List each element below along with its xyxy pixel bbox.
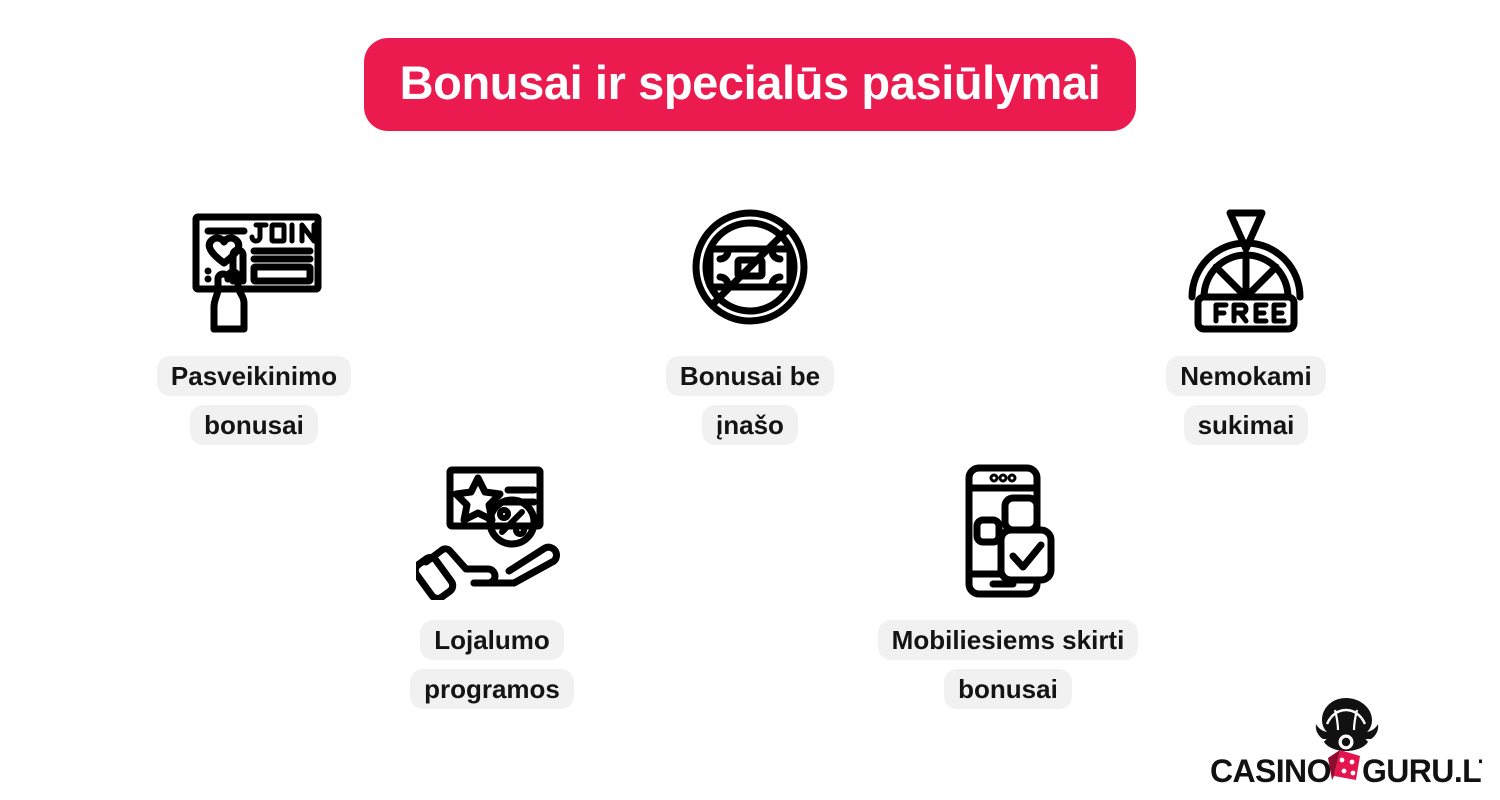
page-title-container: Bonusai ir specialūs pasiūlymai — [0, 38, 1500, 131]
label-line-1: Mobiliesiems skirti — [878, 620, 1139, 660]
feature-label-welcome-bonuses: Pasveikinimo bonusai — [157, 352, 351, 451]
feature-item-loyalty-programs[interactable]: Lojalumo programos — [234, 460, 750, 715]
hand-loyalty-card-percent-icon — [416, 460, 568, 602]
fortune-wheel-free-icon — [1182, 196, 1310, 338]
features-row-top: Pasveikinimo bonusai Bonusai be įnašo — [0, 196, 1500, 451]
feature-label-no-deposit-bonuses: Bonusai be įnašo — [666, 352, 834, 451]
feature-label-mobile-bonuses: Mobiliesiems skirti bonusai — [878, 616, 1139, 715]
logo-text-guru: GURU.LT — [1362, 753, 1482, 788]
label-line-2: sukimai — [1184, 405, 1309, 445]
casino-guru-logo[interactable]: CASINO GURU.LT — [1210, 694, 1482, 788]
turban-eye-icon — [1316, 698, 1378, 751]
dice-icon — [1328, 750, 1360, 780]
feature-item-no-deposit-bonuses[interactable]: Bonusai be įnašo — [502, 196, 998, 451]
feature-item-free-spins[interactable]: Nemokami sukimai — [998, 196, 1494, 451]
feature-label-loyalty-programs: Lojalumo programos — [410, 616, 574, 715]
label-line-2: įnašo — [702, 405, 798, 445]
label-line-2: bonusai — [944, 669, 1072, 709]
smartphone-checkmark-icon — [959, 460, 1057, 602]
label-line-1: Pasveikinimo — [157, 356, 351, 396]
feature-label-free-spins: Nemokami sukimai — [1166, 352, 1326, 451]
features-row-bottom: Lojalumo programos Mo — [0, 460, 1500, 715]
no-money-banknote-icon — [686, 196, 814, 338]
label-line-2: bonusai — [190, 405, 318, 445]
label-line-1: Bonusai be — [666, 356, 834, 396]
label-line-2: programos — [410, 669, 574, 709]
feature-item-welcome-bonuses[interactable]: Pasveikinimo bonusai — [6, 196, 502, 451]
join-card-hand-icon — [184, 196, 324, 338]
logo-text-casino: CASINO — [1210, 753, 1331, 788]
feature-item-mobile-bonuses[interactable]: Mobiliesiems skirti bonusai — [750, 460, 1266, 715]
label-line-1: Lojalumo — [420, 620, 564, 660]
page-title: Bonusai ir specialūs pasiūlymai — [364, 38, 1137, 131]
label-line-1: Nemokami — [1166, 356, 1326, 396]
